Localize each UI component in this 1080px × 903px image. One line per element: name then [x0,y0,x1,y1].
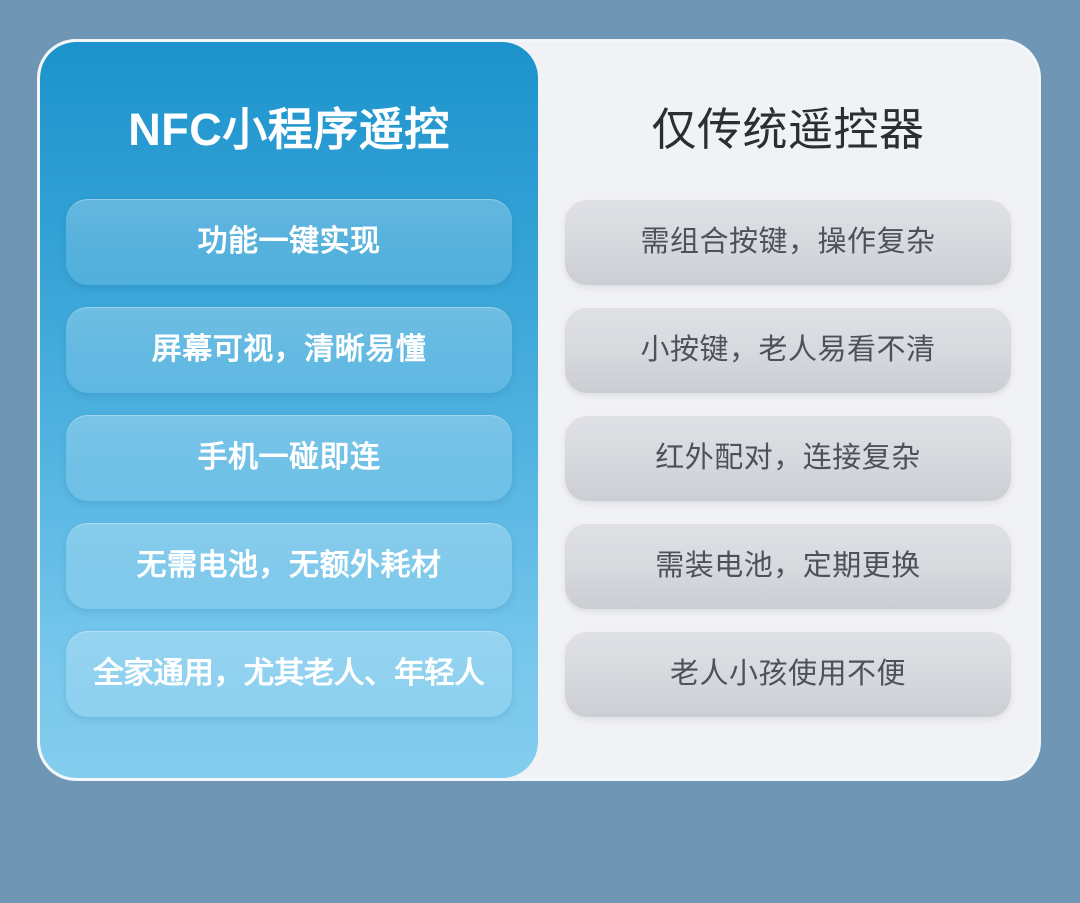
comparison-card: NFC小程序遥控 功能一键实现 屏幕可视，清晰易懂 手机一碰即连 无需电池，无额… [40,42,1038,778]
traditional-drawback-label-4: 需装电池，定期更换 [655,552,921,581]
traditional-drawback-item-4: 需装电池，定期更换 [565,523,1011,609]
nfc-benefit-label-4: 无需电池，无额外耗材 [137,551,442,581]
nfc-benefit-list: 功能一键实现 屏幕可视，清晰易懂 手机一碰即连 无需电池，无额外耗材 全家通用，… [66,199,512,717]
traditional-remote-panel: 仅传统遥控器 需组合按键，操作复杂 小按键，老人易看不清 红外配对，连接复杂 需… [538,42,1038,778]
nfc-benefit-label-5: 全家通用，尤其老人、年轻人 [93,659,484,689]
nfc-benefit-label-3: 手机一碰即连 [198,443,381,473]
traditional-drawback-list: 需组合按键，操作复杂 小按键，老人易看不清 红外配对，连接复杂 需装电池，定期更… [565,199,1011,717]
traditional-drawback-label-1: 需组合按键，操作复杂 [640,228,935,257]
traditional-drawback-label-2: 小按键，老人易看不清 [640,336,935,365]
nfc-benefit-item-2: 屏幕可视，清晰易懂 [66,307,512,393]
nfc-benefit-label-1: 功能一键实现 [198,227,381,257]
nfc-benefit-label-2: 屏幕可视，清晰易懂 [152,335,427,365]
traditional-drawback-item-1: 需组合按键，操作复杂 [565,199,1011,285]
traditional-drawback-item-5: 老人小孩使用不便 [565,631,1011,717]
traditional-drawback-item-2: 小按键，老人易看不清 [565,307,1011,393]
nfc-benefit-item-4: 无需电池，无额外耗材 [66,523,512,609]
nfc-panel-title: NFC小程序遥控 [40,96,538,164]
nfc-benefit-item-5: 全家通用，尤其老人、年轻人 [66,631,512,717]
traditional-drawback-label-5: 老人小孩使用不便 [670,660,906,689]
nfc-advantage-panel: NFC小程序遥控 功能一键实现 屏幕可视，清晰易懂 手机一碰即连 无需电池，无额… [40,42,538,778]
traditional-drawback-item-3: 红外配对，连接复杂 [565,415,1011,501]
nfc-benefit-item-3: 手机一碰即连 [66,415,512,501]
traditional-panel-title: 仅传统遥控器 [538,96,1038,164]
traditional-drawback-label-3: 红外配对，连接复杂 [655,444,921,473]
nfc-benefit-item-1: 功能一键实现 [66,199,512,285]
